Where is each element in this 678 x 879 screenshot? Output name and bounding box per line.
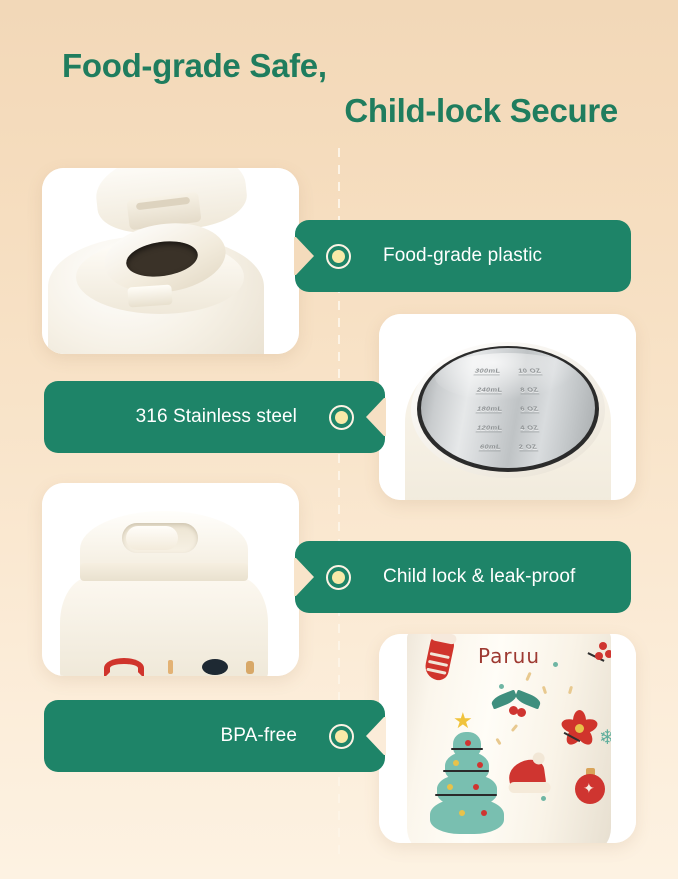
volume-mark-row: 120mL 4 OZ bbox=[476, 424, 540, 432]
infographic-stage: Food-grade Safe, Child-lock Secure Food-… bbox=[0, 0, 678, 879]
title-line-1: Food-grade Safe, bbox=[52, 44, 626, 89]
feature-bar-bpa-free[interactable]: BPA-free bbox=[44, 700, 385, 772]
lid-photo bbox=[42, 168, 299, 354]
photo-card-printed-bottle: Paruu bbox=[379, 634, 636, 843]
notch-right-icon bbox=[366, 717, 386, 755]
title-line-2: Child-lock Secure bbox=[52, 89, 626, 134]
feature-label: Food-grade plastic bbox=[383, 245, 542, 267]
volume-oz: 2 OZ bbox=[518, 443, 538, 451]
volume-mark-row: 240mL 8 OZ bbox=[476, 386, 540, 394]
lock-bottle-pattern bbox=[60, 654, 268, 676]
feature-bar-child-lock[interactable]: Child lock & leak-proof bbox=[295, 541, 631, 613]
poinsettia-motif-icon bbox=[557, 706, 601, 750]
steel-photo: 300mL 10 OZ 240mL 8 OZ 180mL 6 OZ 120mL … bbox=[379, 314, 636, 500]
stocking-motif-icon bbox=[423, 636, 455, 682]
santa-hat-motif-icon bbox=[504, 753, 553, 799]
volume-oz: 4 OZ bbox=[520, 424, 540, 432]
bottle-surface: Paruu bbox=[407, 634, 611, 843]
volume-oz: 10 OZ bbox=[518, 367, 543, 375]
bell-motif-icon bbox=[246, 661, 254, 674]
lock-cap-band bbox=[80, 563, 248, 581]
volume-ml: 180mL bbox=[476, 405, 503, 413]
photo-card-steel-interior: 300mL 10 OZ 240mL 8 OZ 180mL 6 OZ 120mL … bbox=[379, 314, 636, 500]
photo-card-child-lock bbox=[42, 483, 299, 676]
volume-ml: 240mL bbox=[476, 386, 503, 394]
photo-card-flip-top-lid bbox=[42, 168, 299, 354]
feature-label: BPA-free bbox=[221, 725, 297, 747]
bottle-photo: Paruu bbox=[379, 634, 636, 843]
volume-oz: 8 OZ bbox=[520, 386, 540, 394]
volume-ml: 60mL bbox=[478, 443, 501, 451]
volume-oz: 6 OZ bbox=[520, 405, 540, 413]
bullet-marker-icon bbox=[326, 244, 351, 269]
volume-markings: 300mL 10 OZ 240mL 8 OZ 180mL 6 OZ 120mL … bbox=[421, 348, 595, 468]
child-lock-slider-button bbox=[126, 526, 178, 550]
berries-motif-icon bbox=[583, 642, 611, 670]
steel-interior-surface: 300mL 10 OZ 240mL 8 OZ 180mL 6 OZ 120mL … bbox=[421, 348, 595, 468]
ornament-motif-icon bbox=[202, 659, 228, 675]
lid-latch bbox=[127, 284, 172, 307]
feature-label: 316 Stainless steel bbox=[136, 406, 297, 428]
volume-ml: 120mL bbox=[476, 424, 503, 432]
volume-mark-row: 300mL 10 OZ bbox=[473, 367, 542, 375]
lock-photo bbox=[42, 483, 299, 676]
volume-ml: 300mL bbox=[473, 367, 500, 375]
feature-label: Child lock & leak-proof bbox=[383, 566, 575, 588]
bullet-marker-icon bbox=[329, 724, 354, 749]
notch-left-icon bbox=[294, 558, 314, 596]
volume-mark-row: 180mL 6 OZ bbox=[476, 405, 540, 413]
feature-bar-stainless-steel[interactable]: 316 Stainless steel bbox=[44, 381, 385, 453]
bullet-marker-icon bbox=[329, 405, 354, 430]
feature-bar-food-grade-plastic[interactable]: Food-grade plastic bbox=[295, 220, 631, 292]
candy-cane-motif-icon bbox=[104, 658, 144, 676]
page-title: Food-grade Safe, Child-lock Secure bbox=[0, 44, 678, 134]
bullet-marker-icon bbox=[326, 565, 351, 590]
notch-right-icon bbox=[366, 398, 386, 436]
christmas-tree-motif-icon: ★ bbox=[429, 714, 503, 838]
ornament-motif-icon: ✦ bbox=[573, 768, 607, 806]
notch-left-icon bbox=[294, 237, 314, 275]
snowflake-motif-icon: ❄ bbox=[599, 728, 611, 748]
confetti-motif-icon bbox=[168, 660, 173, 674]
volume-mark-row: 60mL 2 OZ bbox=[478, 443, 538, 451]
